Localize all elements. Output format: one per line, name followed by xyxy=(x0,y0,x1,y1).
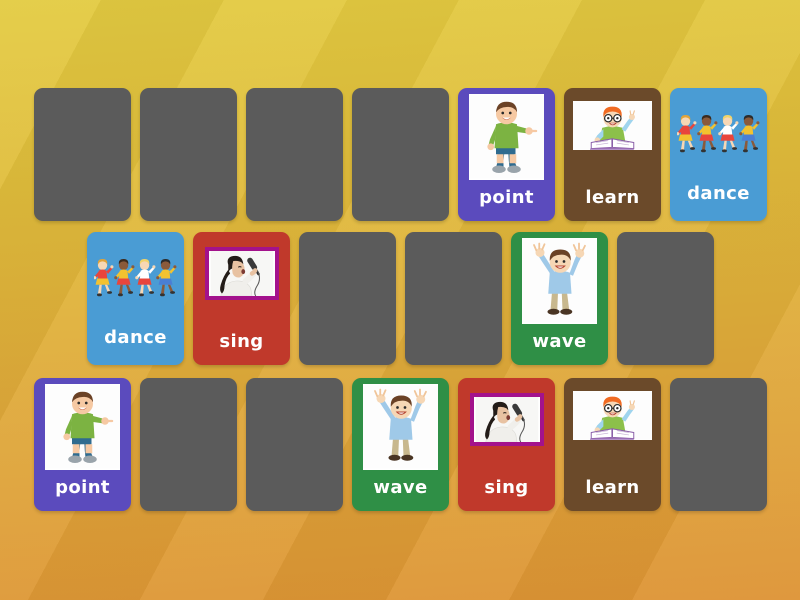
memory-card-point[interactable]: point xyxy=(458,88,555,221)
memory-card-learn[interactable]: learn xyxy=(564,378,661,511)
four-children-dancing-illustration-image xyxy=(677,114,761,155)
boy-waving-illustration-image xyxy=(363,384,438,470)
card-label: learn xyxy=(564,479,661,497)
memory-card-face-down[interactable] xyxy=(617,232,714,365)
card-label: dance xyxy=(87,329,184,347)
memory-card-face-down[interactable] xyxy=(140,88,237,221)
card-label: sing xyxy=(193,333,290,351)
memory-card-point[interactable]: point xyxy=(34,378,131,511)
card-label: point xyxy=(458,189,555,207)
memory-card-face-down[interactable] xyxy=(140,378,237,511)
memory-card-face-down[interactable] xyxy=(299,232,396,365)
memory-card-dance[interactable]: dance xyxy=(87,232,184,365)
game-board: point learn xyxy=(0,0,800,600)
memory-card-learn[interactable]: learn xyxy=(564,88,661,221)
card-label: point xyxy=(34,479,131,497)
memory-card-face-down[interactable] xyxy=(670,378,767,511)
memory-card-face-down[interactable] xyxy=(405,232,502,365)
boy-waving-illustration-image xyxy=(522,238,597,324)
memory-card-face-down[interactable] xyxy=(246,378,343,511)
memory-card-face-down[interactable] xyxy=(352,88,449,221)
child-reading-book-illustration-image xyxy=(573,391,652,440)
memory-card-wave[interactable]: wave xyxy=(352,378,449,511)
memory-card-sing[interactable]: sing xyxy=(193,232,290,365)
boy-pointing-illustration-image xyxy=(45,384,120,470)
four-children-dancing-illustration-image xyxy=(94,258,178,299)
girl-singing-microphone-photo-image xyxy=(470,393,544,446)
memory-card-dance[interactable]: dance xyxy=(670,88,767,221)
memory-card-wave[interactable]: wave xyxy=(511,232,608,365)
card-label: wave xyxy=(511,333,608,351)
card-label: learn xyxy=(564,189,661,207)
boy-pointing-illustration-image xyxy=(469,94,544,180)
card-label: dance xyxy=(670,185,767,203)
memory-card-face-down[interactable] xyxy=(246,88,343,221)
card-label: wave xyxy=(352,479,449,497)
child-reading-book-illustration-image xyxy=(573,101,652,150)
card-label: sing xyxy=(458,479,555,497)
memory-card-face-down[interactable] xyxy=(34,88,131,221)
memory-card-sing[interactable]: sing xyxy=(458,378,555,511)
girl-singing-microphone-photo-image xyxy=(205,247,279,300)
